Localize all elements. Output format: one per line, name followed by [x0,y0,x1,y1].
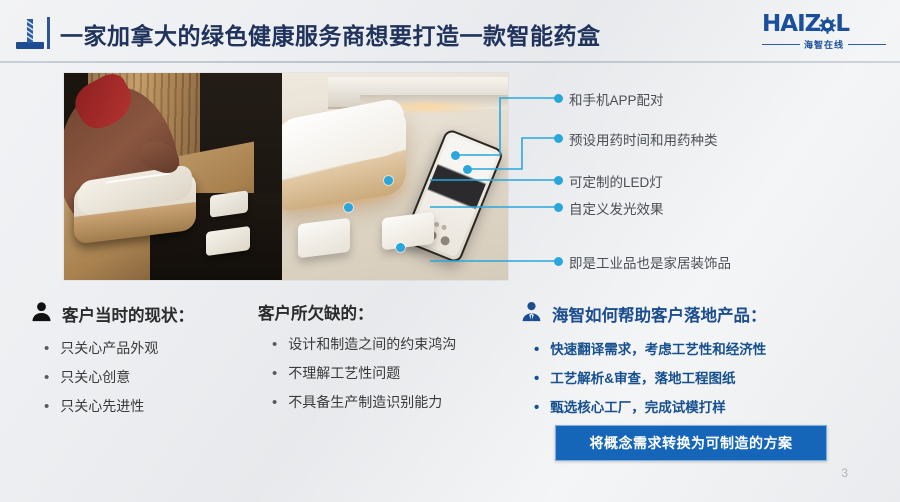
list-item: •只关心创意 [44,367,260,387]
list-item-label: 不具备生产制造识别能力 [288,392,442,412]
gear-icon [819,16,836,33]
list-item: •甄选核心工厂，完成试模打样 [534,396,865,416]
list-item-label: 只关心先进性 [60,396,144,416]
list-item: •不具备生产制造识别能力 [272,392,508,412]
list-item: •只关心产品外观 [44,338,260,358]
logo-rule-left [762,44,800,45]
conclusion-banner: 将概念需求转换为可制造的方案 [555,425,827,461]
list-item: •不理解工艺性问题 [272,363,508,383]
bullet-marker: • [272,337,277,352]
callout-label-3: 可定制的LED灯 [569,171,663,191]
list-item: •工艺解析&审查，落地工程图纸 [534,367,865,387]
slide: 一家加拿大的绿色健康服务商想要打造一款智能药盒 HAIZ [0,0,900,502]
logo-wordmark: HAIZ [762,13,886,36]
bullet-marker: • [272,395,277,410]
callout-dot-3 [554,176,563,185]
bullet-marker: • [44,370,49,385]
callout-label-4: 自定义发光效果 [569,198,664,218]
header-rule [0,61,900,63]
photo-pill-container-1 [298,218,350,258]
list-item-label: 工艺解析&审查，落地工程图纸 [550,367,735,387]
logo-text-l: L [835,13,849,36]
column-header: 客户所欠缺的： [258,300,508,324]
callout-dot-5 [554,257,563,266]
person-icon [30,300,53,328]
bullet-marker: • [534,371,539,386]
logo-text-hai: HA [762,13,797,36]
logo-rule-right [848,44,886,45]
page-number: 3 [841,466,848,480]
slide-header: 一家加拿大的绿色健康服务商想要打造一款智能药盒 HAIZ [0,0,900,62]
callout-label-1: 和手机APP配对 [569,89,664,109]
logo-subtitle-row: 海智在线 [762,38,886,51]
callout-list: 和手机APP配对 预设用药时间和用药种类 可定制的LED灯 自定义发光效果 即是… [430,73,900,283]
logo-subtitle: 海智在线 [804,38,844,51]
column-bullet-list: •快速翻译需求，考虑工艺性和经济性 •工艺解析&审查，落地工程图纸 •甄选核心工… [520,338,865,416]
header-divider [47,17,50,49]
page-title: 一家加拿大的绿色健康服务商想要打造一款智能药盒 [60,17,601,51]
list-item: •设计和制造之间的约束鸿沟 [272,334,508,354]
list-item-label: 设计和制造之间的约束鸿沟 [288,334,456,354]
list-item: •快速翻译需求，考虑工艺性和经济性 [534,338,865,358]
bullet-marker: • [272,366,277,381]
callout-anchor-dot-3 [384,176,393,185]
callout-anchor-dot-5 [396,243,405,252]
column-header: 客户当时的现状： [30,300,260,328]
bullet-marker: • [534,400,539,415]
businessperson-icon [520,300,543,328]
column-title: 客户所欠缺的： [258,300,374,324]
column-title: 海智如何帮助客户落地产品： [552,302,767,326]
bullet-marker: • [44,341,49,356]
list-item-label: 甄选核心工厂，完成试模打样 [550,396,726,416]
bullet-marker: • [44,399,49,414]
column-bullet-list: •设计和制造之间的约束鸿沟 •不理解工艺性问题 •不具备生产制造识别能力 [258,334,508,412]
callout-anchor-dot-4 [344,203,353,212]
list-item-label: 不理解工艺性问题 [288,363,400,383]
callout-dot-4 [554,203,563,212]
haizol-logo: HAIZ [762,13,886,57]
column-haizol-solution: 海智如何帮助客户落地产品： •快速翻译需求，考虑工艺性和经济性 •工艺解析&审查… [520,300,865,425]
product-photo-hands [64,73,282,280]
photo-pill-container-2 [382,212,434,250]
list-item-label: 只关心创意 [60,367,130,387]
column-title: 客户当时的现状： [62,302,194,326]
column-header: 海智如何帮助客户落地产品： [520,300,865,328]
column-customer-gaps: 客户所欠缺的： •设计和制造之间的约束鸿沟 •不理解工艺性问题 •不具备生产制造… [258,300,508,421]
callout-label-5: 即是工业品也是家居装饰品 [569,252,731,272]
column-current-situation: 客户当时的现状： •只关心产品外观 •只关心创意 •只关心先进性 [30,300,260,425]
bullet-marker: • [534,342,539,357]
callout-label-2: 预设用药时间和用药种类 [569,129,718,149]
list-item: •只关心先进性 [44,396,260,416]
column-bullet-list: •只关心产品外观 •只关心创意 •只关心先进性 [30,338,260,416]
list-item-label: 快速翻译需求，考虑工艺性和经济性 [550,338,766,358]
list-item-label: 只关心产品外观 [60,338,158,358]
drill-machining-icon [10,18,50,52]
logo-text-iz: IZ [797,13,820,36]
callout-dot-2 [554,134,563,143]
callout-dot-1 [554,94,563,103]
